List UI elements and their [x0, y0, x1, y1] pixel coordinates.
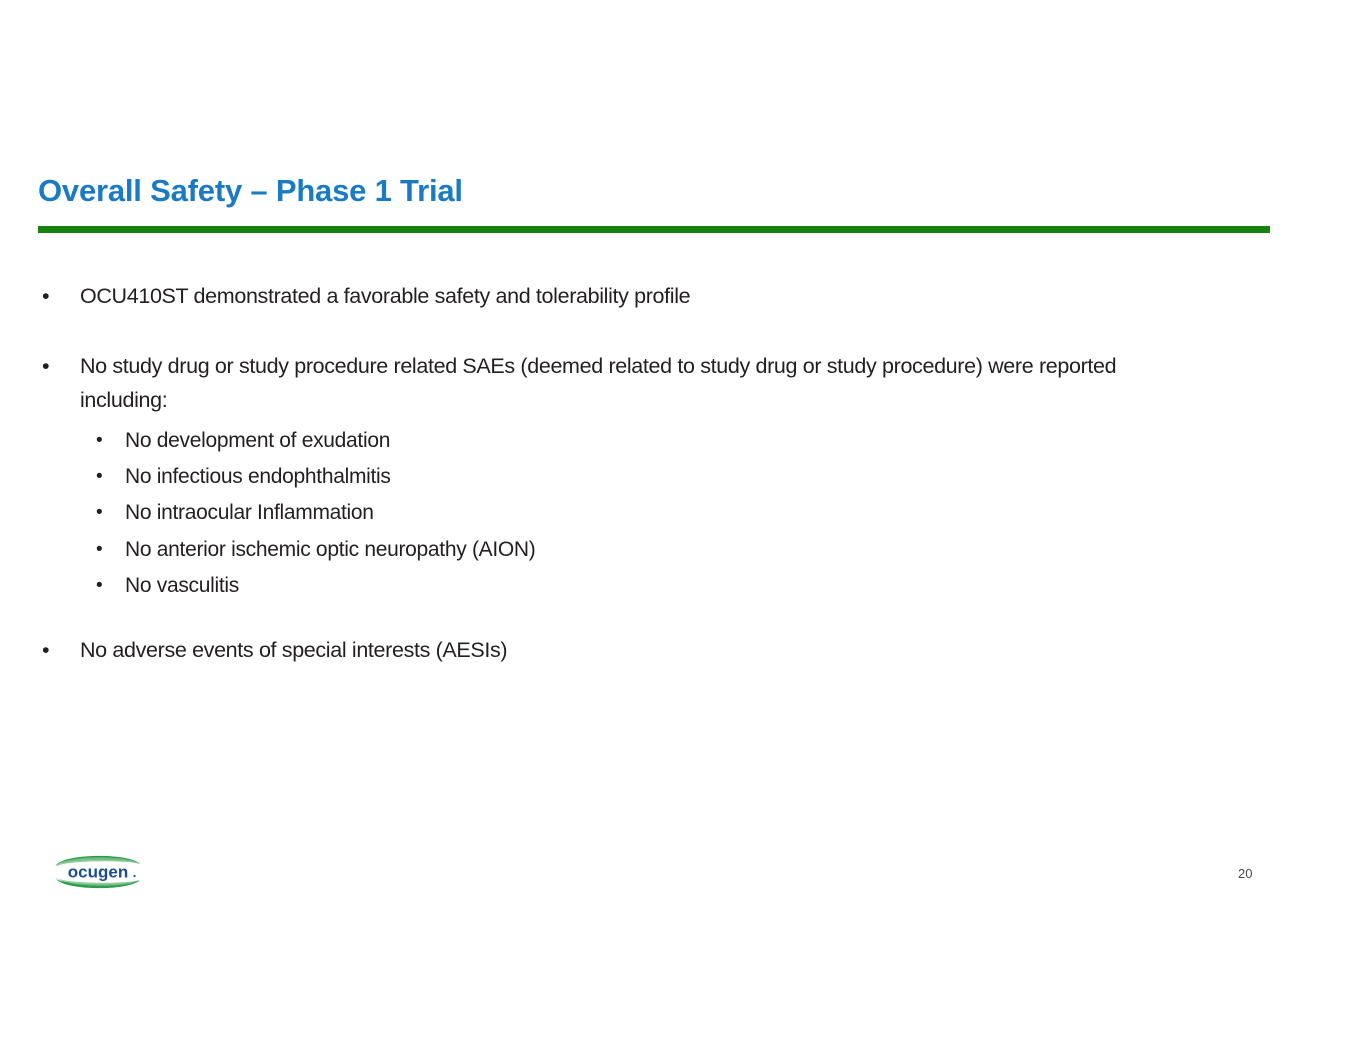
bullet-marker-icon: •: [42, 280, 49, 314]
bullet-text: No study drug or study procedure related…: [80, 354, 1116, 412]
title-underline-rule: [38, 226, 1270, 233]
sub-bullet-item: • No intraocular Inflammation: [0, 495, 1365, 531]
sub-bullet-item: • No anterior ischemic optic neuropathy …: [0, 532, 1365, 568]
bullet-item: • OCU410ST demonstrated a favorable safe…: [0, 280, 1195, 314]
sub-bullet-text: No anterior ischemic optic neuropathy (A…: [125, 538, 535, 561]
bullet-marker-icon: •: [96, 459, 102, 495]
bullet-marker-icon: •: [96, 568, 102, 604]
bullet-text: No adverse events of special interests (…: [80, 638, 507, 662]
sub-bullet-text: No infectious endophthalmitis: [125, 465, 391, 488]
logo-trademark-dot-icon: [133, 875, 135, 877]
bullet-marker-icon: •: [42, 350, 49, 384]
bullet-marker-icon: •: [96, 423, 102, 459]
sub-bullet-list: • No development of exudation • No infec…: [0, 423, 1365, 604]
bullet-marker-icon: •: [42, 634, 49, 668]
bullet-item: • No study drug or study procedure relat…: [0, 350, 1195, 418]
title-block: Overall Safety – Phase 1 Trial: [38, 172, 1270, 209]
bullet-marker-icon: •: [96, 532, 102, 568]
sub-bullet-text: No intraocular Inflammation: [125, 501, 374, 524]
spacer: [0, 604, 1365, 634]
page-number: 20: [1238, 866, 1252, 881]
bullet-text: OCU410ST demonstrated a favorable safety…: [80, 284, 690, 308]
sub-bullet-item: • No development of exudation: [0, 423, 1365, 459]
slide-body: • OCU410ST demonstrated a favorable safe…: [0, 280, 1365, 668]
ocugen-logo: ocugen: [50, 848, 146, 896]
spacer: [0, 314, 1365, 350]
sub-bullet-text: No vasculitis: [125, 574, 239, 597]
sub-bullet-item: • No infectious endophthalmitis: [0, 459, 1365, 495]
bullet-marker-icon: •: [96, 495, 102, 531]
page-title: Overall Safety – Phase 1 Trial: [38, 172, 1270, 209]
slide-canvas: Overall Safety – Phase 1 Trial • OCU410S…: [0, 0, 1365, 1055]
sub-bullet-text: No development of exudation: [125, 429, 390, 452]
bullet-item: • No adverse events of special interests…: [0, 634, 1195, 668]
logo-wordmark: ocugen: [68, 863, 128, 882]
sub-bullet-item: • No vasculitis: [0, 568, 1365, 604]
